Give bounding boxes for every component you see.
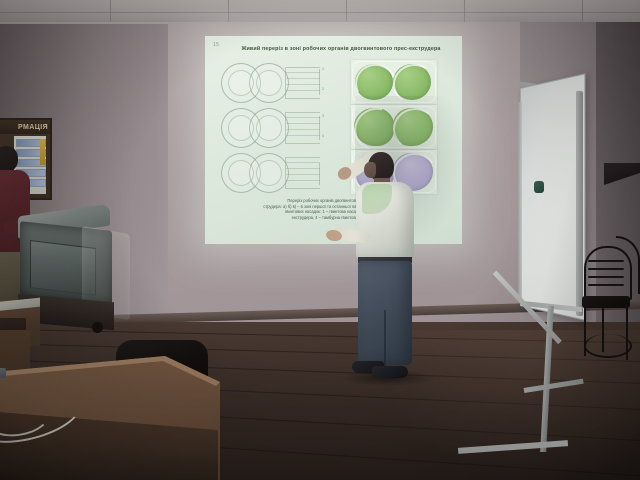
classroom-scene: 15 Живий переріз в зоні робочих органів … [0, 0, 640, 480]
whiteboard-magnet [534, 181, 544, 193]
cross-section-photo [351, 60, 437, 104]
chair-backrest [584, 246, 632, 300]
side-table-top [0, 298, 40, 312]
chair-ring-support [584, 334, 632, 358]
presenter-pointing-hand [335, 164, 353, 182]
whiteboard-left-frame [518, 102, 522, 298]
second-person-head [0, 146, 18, 172]
slide-number: 15 [213, 42, 219, 48]
stacked-chairs [572, 238, 640, 386]
figure-row: 1 2 [213, 60, 453, 104]
cross-section-line-drawing [219, 151, 349, 193]
cross-section-line-drawing: 3 4 [219, 106, 349, 148]
chair-seat [582, 296, 630, 308]
cross-section-line-drawing: 1 2 [219, 61, 349, 103]
whiteboard-stand-foot [458, 440, 568, 454]
whiteboard [458, 88, 588, 460]
hatching-icon [285, 112, 320, 144]
hatching-icon [285, 157, 320, 189]
presenter-face [364, 162, 376, 178]
presenter-leg-seam [384, 310, 386, 366]
slide-title: Живий переріз в зоні робочих органів дво… [225, 46, 457, 53]
notice-board-title: РМАЦІЯ [0, 120, 50, 134]
hatching-icon [285, 67, 320, 99]
desk-object [0, 368, 6, 378]
presenter-shoe [372, 366, 408, 378]
presenter [334, 140, 438, 392]
